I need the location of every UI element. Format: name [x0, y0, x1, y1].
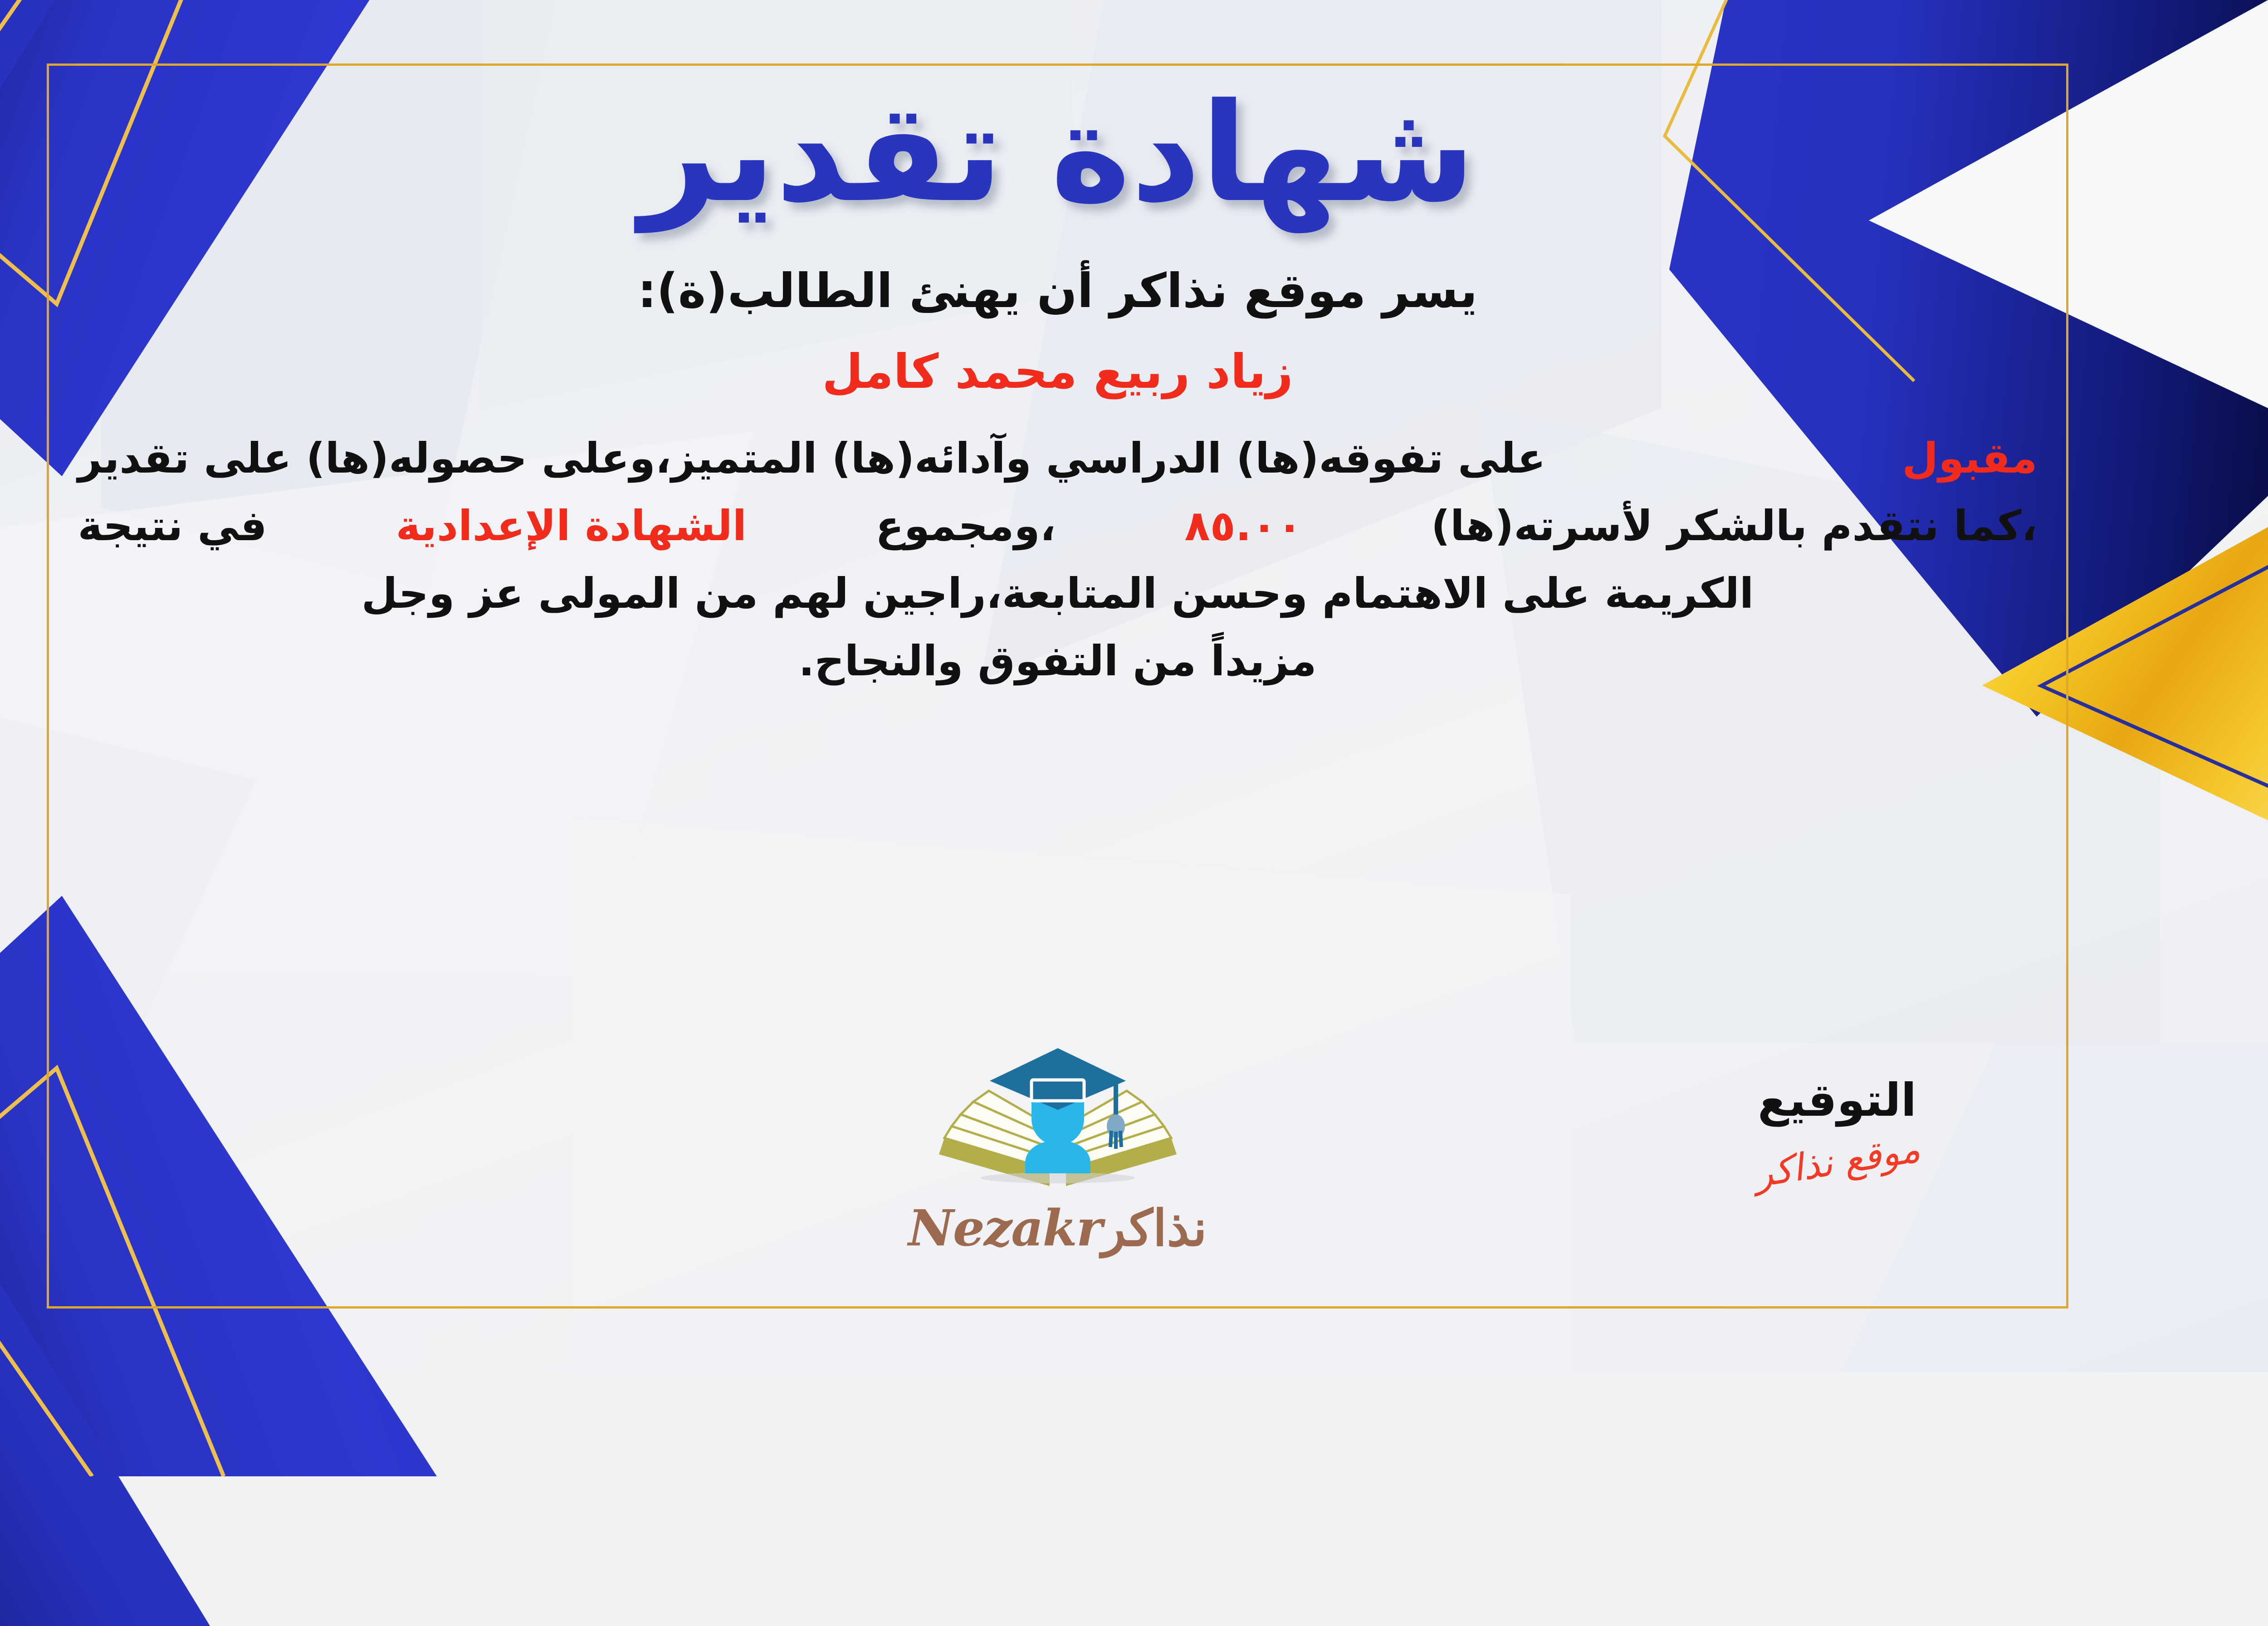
logo-latin-text: Nezakr [908, 1199, 1101, 1257]
signature-handwriting: موقع نذاكر [1751, 1128, 1923, 1196]
certificate-footer: التوقيع موقع نذاكر [47, 1006, 2068, 1296]
body-line-1: مقبول على تفوقه(ها) الدراسي وآدائه(ها) ا… [78, 425, 2038, 492]
page-title: شهادة تقدير [640, 75, 1475, 231]
body-line-2: ،كما نتقدم بالشكر لأسرته(ها) ٨٥.٠٠ ،ومجم… [78, 492, 2038, 560]
intro-text: يسر موقع نذاكر أن يهنئ الطالب(ة): [638, 263, 1477, 318]
body-line-2-head: في نتيجة [78, 492, 267, 560]
signature-block: التوقيع موقع نذاكر [1719, 1074, 1955, 1183]
logo-arabic-text: نذاكر [1102, 1199, 1207, 1257]
exam-name-value: الشهادة الإعدادية [396, 492, 747, 560]
signature-label: التوقيع [1719, 1074, 1955, 1127]
body-line-2-mid: ،ومجموع [875, 492, 1056, 560]
body-line-1-text: على تفوقه(ها) الدراسي وآدائه(ها) المتميز… [78, 425, 1546, 492]
body-line-2-tail: ،كما نتقدم بالشكر لأسرته(ها) [1431, 492, 2038, 560]
brand-logo: نذاكرNezakr [885, 1042, 1230, 1257]
body-line-3: الكريمة على الاهتمام وحسن المتابعة،راجين… [78, 560, 2038, 627]
logo-wordmark: نذاكرNezakr [885, 1199, 1230, 1257]
body-line-4: مزيداً من التفوق والنجاح. [78, 627, 2038, 695]
grade-value: مقبول [1902, 425, 2037, 492]
graduate-book-icon [931, 1042, 1185, 1205]
total-score-value: ٨٥.٠٠ [1184, 492, 1302, 560]
student-name: زياد ربيع محمد كامل [822, 344, 1293, 399]
certificate-content: شهادة تقدير يسر موقع نذاكر أن يهنئ الطال… [47, 63, 2068, 1309]
body-paragraph: مقبول على تفوقه(ها) الدراسي وآدائه(ها) ا… [78, 425, 2038, 695]
